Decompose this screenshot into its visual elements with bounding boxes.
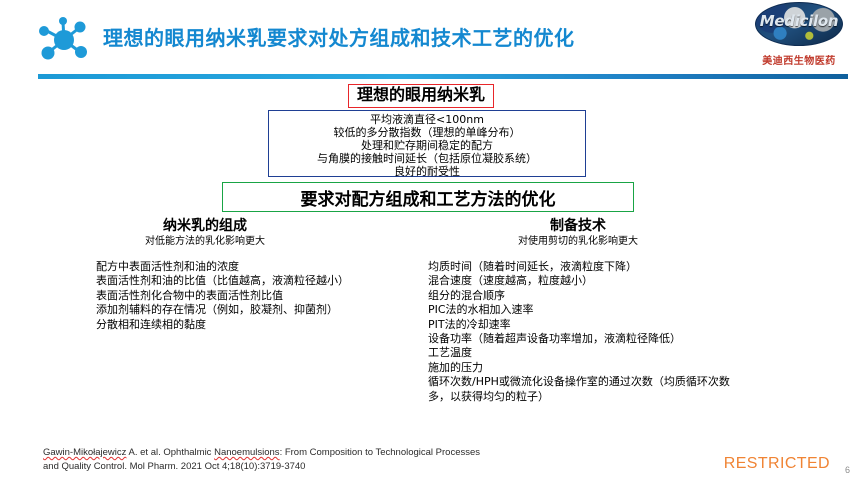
logo-brand-cn: 美迪西生物医药	[751, 52, 847, 67]
column-technology-subheading: 对使用剪切的乳化影响更大	[428, 235, 728, 249]
optimization-requirement-box: 要求对配方组成和工艺方法的优化	[222, 182, 634, 212]
list-item: 施加的压力	[428, 361, 808, 375]
list-item: 设备功率（随着超声设备功率增加，液滴粒径降低）	[428, 332, 808, 346]
restricted-label: RESTRICTED	[724, 455, 830, 473]
column-technology: 制备技术 对使用剪切的乳化影响更大 均质时间（随着时间延长，液滴粒度下降） 混合…	[428, 218, 808, 404]
page-number: 6	[845, 465, 850, 475]
column-technology-heading: 制备技术	[428, 218, 728, 235]
logo-oval-icon: Medicilon	[755, 2, 843, 46]
list-item: 循环次数/HPH或微流化设备操作室的通过次数（均质循环次数多，以获得均匀的粒子）	[428, 375, 738, 404]
list-item: PIT法的冷却速率	[428, 318, 808, 332]
citation-part: A. et al. Ophthalmic	[126, 447, 214, 458]
list-item: 表面活性剂化合物中的表面活性剂比值	[96, 289, 426, 303]
list-item: 表面活性剂和油的比值（比值越高，液滴粒径越小）	[96, 274, 426, 288]
ideal-nanoemulsion-title-box: 理想的眼用纳米乳	[348, 84, 494, 108]
column-composition-heading: 纳米乳的组成	[96, 218, 314, 235]
page-title: 理想的眼用纳米乳要求对处方组成和技术工艺的优化	[103, 22, 575, 51]
citation-part: : From Composition to Technological Proc…	[280, 447, 480, 458]
criteria-line: 良好的耐受性	[269, 165, 585, 178]
list-item: 组分的混合顺序	[428, 289, 808, 303]
criteria-line: 处理和贮存期间稳定的配方	[269, 139, 585, 152]
list-item: 工艺温度	[428, 346, 808, 360]
optimization-requirement-text: 要求对配方组成和工艺方法的优化	[301, 185, 556, 210]
column-technology-list: 均质时间（随着时间延长，液滴粒度下降） 混合速度（速度越高，粒度越小） 组分的混…	[428, 260, 808, 404]
criteria-line: 较低的多分散指数（理想的单峰分布）	[269, 126, 585, 139]
criteria-line: 平均液滴直径<100nm	[269, 113, 585, 126]
column-composition: 纳米乳的组成 对低能方法的乳化影响更大 配方中表面活性剂和油的浓度 表面活性剂和…	[96, 218, 426, 332]
list-item: 分散相和连续相的黏度	[96, 318, 426, 332]
slide-header: 理想的眼用纳米乳要求对处方组成和技术工艺的优化 Medicilon 美迪西生物医…	[0, 0, 859, 80]
list-item: 添加剂辅料的存在情况（例如，胶凝剂、抑菌剂）	[96, 303, 426, 317]
column-composition-list: 配方中表面活性剂和油的浓度 表面活性剂和油的比值（比值越高，液滴粒径越小） 表面…	[96, 260, 426, 332]
company-logo: Medicilon 美迪西生物医药	[751, 2, 847, 67]
column-composition-subheading: 对低能方法的乳化影响更大	[96, 235, 314, 249]
logo-brand-text: Medicilon	[756, 12, 842, 30]
header-divider	[38, 74, 848, 79]
list-item: 均质时间（随着时间延长，液滴粒度下降）	[428, 260, 808, 274]
criteria-line: 与角膜的接触时间延长（包括原位凝胶系统）	[269, 152, 585, 165]
ideal-nanoemulsion-criteria-box: 平均液滴直径<100nm 较低的多分散指数（理想的单峰分布） 处理和贮存期间稳定…	[268, 110, 586, 177]
list-item: PIC法的水相加入速率	[428, 303, 808, 317]
list-item: 配方中表面活性剂和油的浓度	[96, 260, 426, 274]
citation-term: Nanoemulsions	[214, 447, 279, 458]
list-item: 混合速度（速度越高，粒度越小）	[428, 274, 808, 288]
citation-line-2: and Quality Control. Mol Pharm. 2021 Oct…	[43, 460, 563, 474]
citation: Gawin-Mikołajewicz A. et al. Ophthalmic …	[43, 446, 563, 474]
molecule-icon	[33, 16, 95, 62]
citation-author: Gawin-Mikołajewicz	[43, 447, 126, 458]
